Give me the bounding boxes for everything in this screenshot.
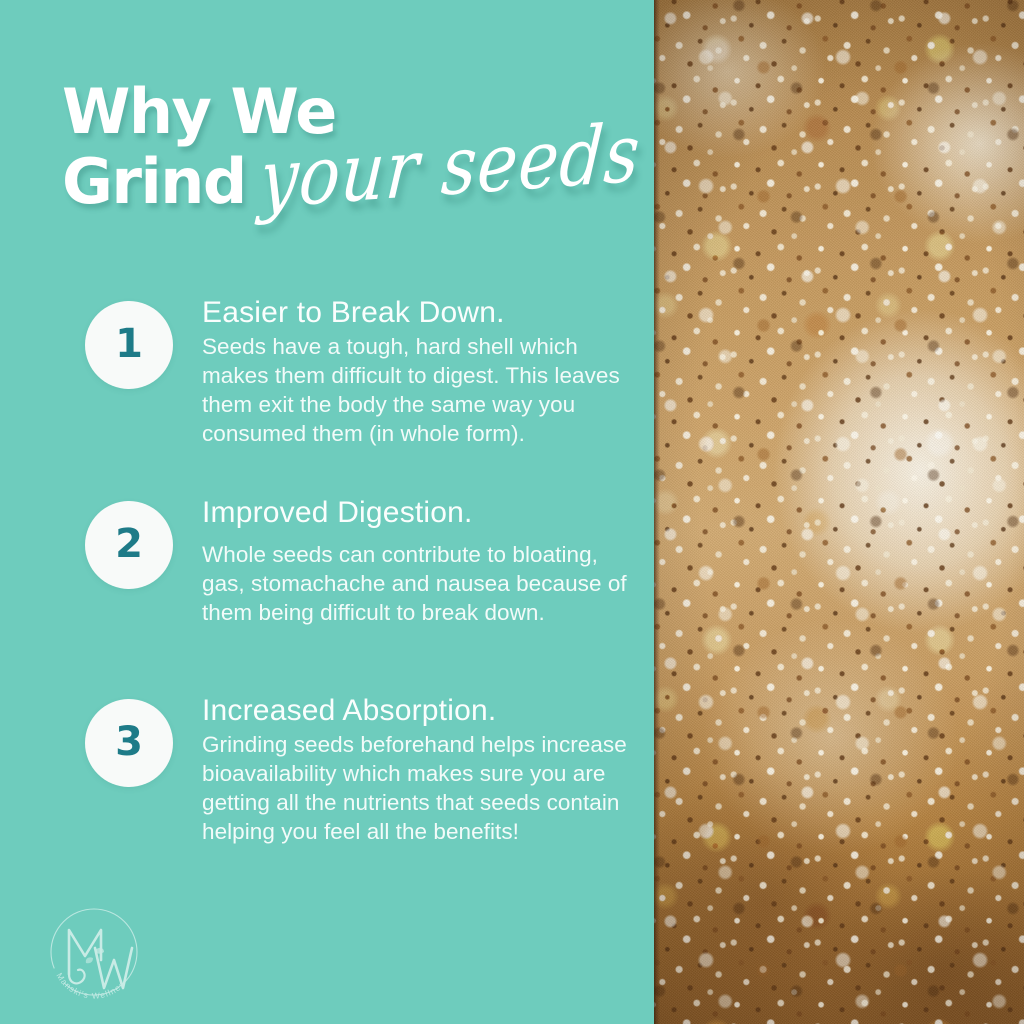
page-title: Why We Grindyour seeds [62, 82, 642, 213]
list-item-body: Easier to Break Down. Seeds have a tough… [202, 296, 632, 448]
number-badge-label: 2 [115, 524, 143, 564]
number-badge-2: 2 [85, 501, 173, 589]
number-badge-1: 1 [85, 301, 173, 389]
list-item-text: Whole seeds can contribute to bloating, … [202, 540, 632, 627]
list-item-text: Seeds have a tough, hard shell which mak… [202, 332, 632, 448]
list-item-title: Improved Digestion. [202, 496, 632, 530]
number-badge-3: 3 [85, 699, 173, 787]
list-item-body: Improved Digestion. Whole seeds can cont… [202, 496, 632, 627]
list-item-title: Easier to Break Down. [202, 296, 632, 330]
number-badge-label: 1 [115, 324, 143, 364]
brand-logo-watermark: Manski's Wellness [38, 898, 150, 1010]
title-bold-grind: Grind [62, 152, 246, 212]
list-item-text: Grinding seeds beforehand helps increase… [202, 730, 632, 846]
logo-monogram-icon: Manski's Wellness [38, 898, 150, 1010]
number-badge-label: 3 [115, 722, 143, 762]
infographic-poster: Why We Grindyour seeds 1 Easier to Break… [0, 0, 1024, 1024]
photo-left-edge-shadow [653, 0, 660, 1024]
seed-meal-photo [653, 0, 1024, 1024]
list-item-body: Increased Absorption. Grinding seeds bef… [202, 694, 632, 846]
photo-vignette [653, 0, 1024, 1024]
list-item-title: Increased Absorption. [202, 694, 632, 728]
title-line-2: Grindyour seeds [62, 148, 642, 213]
title-script-your-seeds: your seeds [257, 115, 643, 219]
